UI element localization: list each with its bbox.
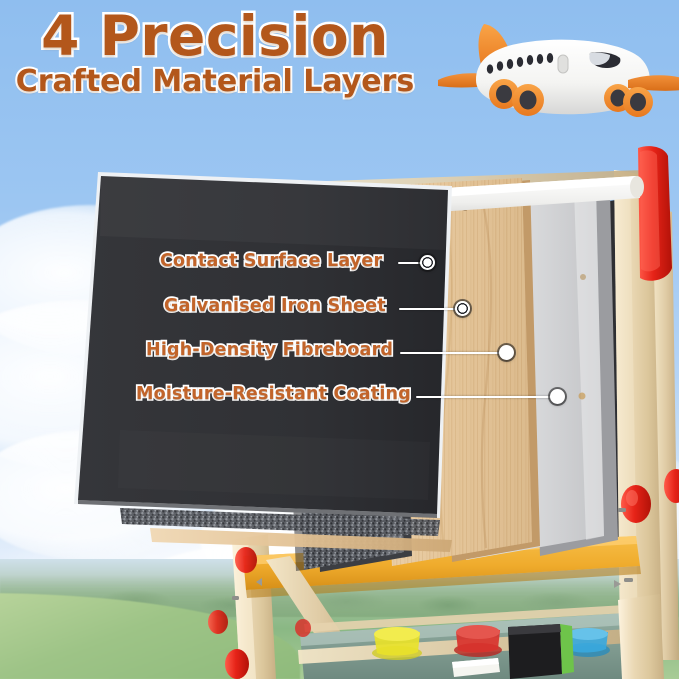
callout-label-contact-surface-layer: Contact Surface Layer: [160, 251, 382, 271]
callout-dot-4[interactable]: [550, 389, 565, 404]
callout-dot-1[interactable]: [420, 255, 435, 270]
callout-label-high-density-fibreboard: High-Density Fibreboard: [146, 340, 393, 360]
callout-dot-2[interactable]: [455, 301, 470, 316]
infographic-canvas: Contact Surface Layer Galvanised Iron Sh…: [0, 0, 679, 679]
callout-leader-line-4: [416, 396, 552, 398]
callout-label-moisture-resistant-coating: Moisture-Resistant Coating: [136, 384, 411, 404]
callout-dot-3[interactable]: [499, 345, 514, 360]
callout-leader-line-3: [400, 352, 501, 354]
callout-group: Contact Surface Layer Galvanised Iron Sh…: [0, 0, 679, 679]
callout-leader-line-2: [399, 308, 457, 310]
callout-label-galvanised-iron-sheet: Galvanised Iron Sheet: [164, 296, 386, 316]
